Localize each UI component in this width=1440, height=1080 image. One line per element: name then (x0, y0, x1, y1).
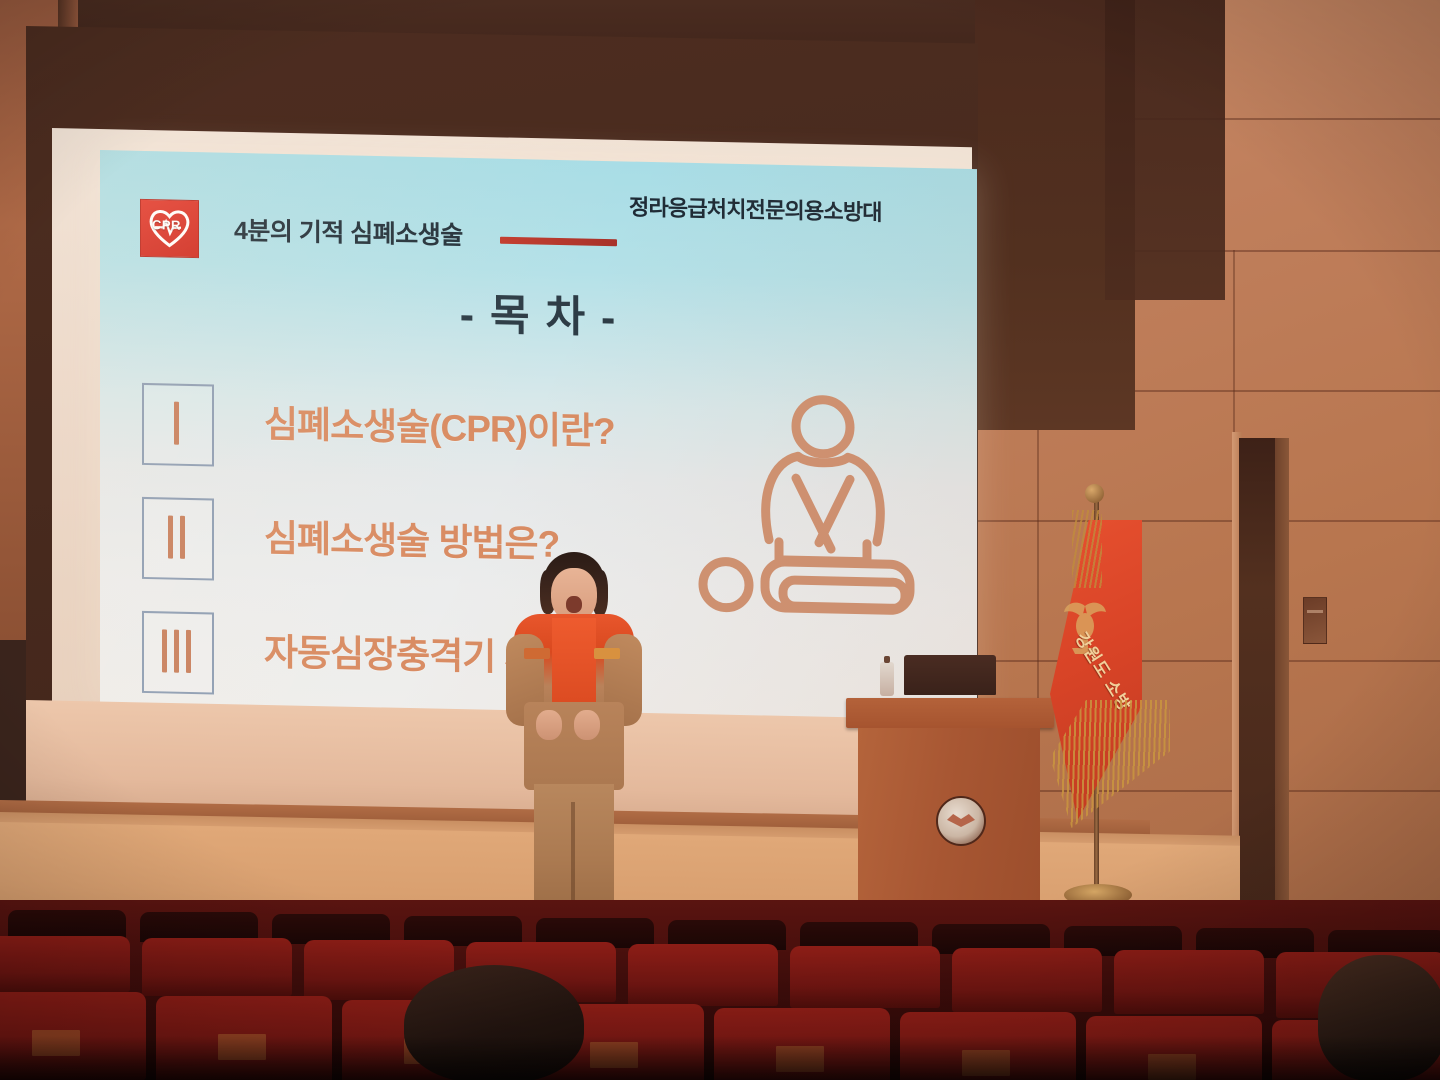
door-leaf[interactable] (1275, 438, 1289, 938)
flag-tassel (1072, 510, 1102, 588)
cpr-chest-compression-icon (695, 388, 945, 633)
presenter-mouth (566, 596, 582, 613)
flag-finial (1085, 484, 1104, 503)
laptop[interactable] (904, 655, 996, 695)
right-wall-shadow-2 (1105, 0, 1225, 300)
seat[interactable] (628, 944, 778, 1006)
title-divider (500, 237, 617, 247)
seat[interactable] (952, 948, 1102, 1012)
seat[interactable] (790, 946, 940, 1008)
seat[interactable] (142, 938, 292, 996)
lectern-top (846, 698, 1054, 728)
presenter-name-patch (524, 648, 550, 659)
auditorium-scene: CPR 4분의 기적 심폐소생술 정라응급처치전문의용소방대 - 목 차 - 심… (0, 0, 1440, 1080)
presenter-leg-seam (571, 802, 575, 908)
seat[interactable] (1114, 950, 1264, 1014)
presenter-hand-left (536, 710, 562, 740)
toc-heading: - 목 차 - (100, 272, 977, 353)
toc-numeral-2 (142, 497, 210, 576)
presenter (500, 552, 646, 937)
cpr-logo-text: CPR (152, 217, 181, 233)
presenter-unit-patch (594, 648, 620, 659)
fire-service-emblem (936, 796, 986, 846)
wall-panel[interactable] (1303, 597, 1327, 644)
lectern-body (858, 728, 1040, 926)
organization-name: 정라응급처치전문의용소방대 (629, 190, 882, 228)
toc-label-1: 심폐소생술(CPR)이란? (264, 394, 615, 456)
seat[interactable] (0, 936, 130, 992)
presenter-hand-right (574, 710, 600, 740)
slide-title: 4분의 기적 심폐소생술 (234, 211, 463, 252)
toc-numeral-3 (142, 611, 210, 690)
toc-numeral-1 (142, 383, 210, 462)
water-bottle (880, 662, 894, 696)
cpr-logo: CPR (140, 199, 199, 258)
foreground-shadow (0, 1036, 1440, 1080)
